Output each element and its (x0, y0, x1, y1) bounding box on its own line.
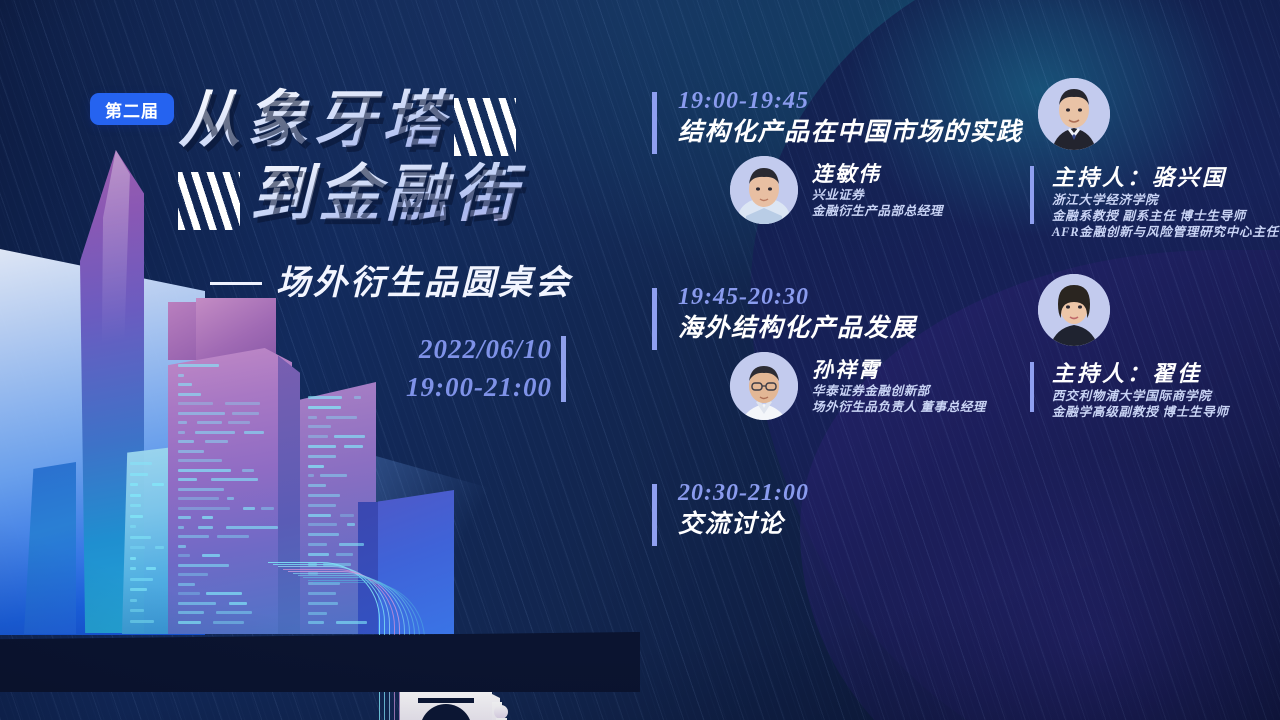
speaker-name: 孙祥霄 (812, 357, 986, 383)
poster-subtitle: 场外衍生品圆桌会 (210, 255, 600, 304)
ground-mask (0, 632, 640, 692)
session-time: 20:30-21:00 (678, 478, 1272, 508)
host-portrait-icon (1038, 78, 1110, 150)
event-date: 2022/06/10 (352, 330, 552, 368)
host-org-line-1: 西交利物浦大学国际商学院 (1052, 388, 1280, 404)
avatar (1038, 274, 1110, 346)
speaker-block: 孙祥霄 华泰证券金融创新部 场外衍生品负责人 董事总经理 (730, 352, 986, 420)
speaker-portrait-icon (730, 156, 798, 224)
event-datetime: 2022/06/10 19:00-21:00 (352, 330, 552, 406)
avatar (730, 352, 798, 420)
speaker-org-line-2: 场外衍生品负责人 董事总经理 (812, 399, 986, 415)
event-time: 19:00-21:00 (352, 368, 552, 406)
host-org-line-1: 浙江大学经济学院 (1052, 192, 1280, 208)
speaker-block: 连敏伟 兴业证券 金融衍生产品部总经理 (730, 156, 943, 224)
datetime-accent-bar (561, 336, 566, 402)
host-name: 主持人：骆兴国 (1052, 164, 1280, 192)
speaker-portrait-icon (730, 352, 798, 420)
speaker-org-line-1: 兴业证券 (812, 187, 943, 203)
host-block: 主持人：骆兴国 浙江大学经济学院 金融系教授 副系主任 博士生导师 AFR金融创… (1030, 78, 1280, 240)
speaker-text: 孙祥霄 华泰证券金融创新部 场外衍生品负责人 董事总经理 (812, 357, 986, 415)
building-mid-tall (122, 447, 174, 634)
session-accent-bar (652, 288, 657, 350)
subtitle-dash (210, 282, 262, 285)
title-line-2-text: 到金融街 (250, 161, 522, 229)
subtitle-text: 场外衍生品圆桌会 (276, 265, 572, 302)
session-title: 交流讨论 (678, 508, 1272, 542)
host-org-line-2: 金融学高级副教授 博士生导师 (1052, 404, 1280, 420)
host-portrait-icon (1038, 274, 1110, 346)
slash-decor-left (178, 172, 240, 230)
session-accent-bar (652, 92, 657, 154)
session-accent-bar (652, 484, 657, 546)
title-line-1: 从象牙塔 (178, 84, 598, 158)
agenda-session: 19:45-20:30 海外结构化产品发展 (652, 282, 1272, 478)
agenda-list: 19:00-19:45 结构化产品在中国市场的实践 (652, 86, 1272, 542)
host-org-line-3: AFR金融创新与风险管理研究中心主任 (1052, 224, 1280, 240)
host-accent-bar (1030, 166, 1034, 224)
host-accent-bar (1030, 362, 1034, 412)
host-name: 主持人：翟佳 (1052, 360, 1280, 388)
session-people: 连敏伟 兴业证券 金融衍生产品部总经理 (652, 156, 1272, 252)
speaker-org-line-1: 华泰证券金融创新部 (812, 383, 986, 399)
session-people: 孙祥霄 华泰证券金融创新部 场外衍生品负责人 董事总经理 (652, 352, 1272, 448)
host-org-line-2: 金融系教授 副系主任 博士生导师 (1052, 208, 1280, 224)
agenda-session: 19:00-19:45 结构化产品在中国市场的实践 (652, 86, 1272, 282)
title-line-1-text: 从象牙塔 (178, 87, 450, 155)
event-poster: 第二届 从象牙塔 到金融街 场外衍生品圆桌会 2022/06/10 19:00-… (0, 0, 1280, 720)
edition-badge: 第二届 (90, 93, 174, 125)
speaker-name: 连敏伟 (812, 161, 943, 187)
speaker-text: 连敏伟 兴业证券 金融衍生产品部总经理 (812, 161, 943, 219)
agenda-session: 20:30-21:00 交流讨论 (652, 478, 1272, 542)
poster-title: 从象牙塔 到金融街 (178, 84, 598, 232)
title-line-2: 到金融街 (178, 158, 598, 232)
host-block: 主持人：翟佳 西交利物浦大学国际商学院 金融学高级副教授 博士生导师 (1030, 274, 1280, 420)
avatar (1038, 78, 1110, 150)
slash-decor-right (454, 98, 516, 156)
avatar (730, 156, 798, 224)
speaker-org-line-2: 金融衍生产品部总经理 (812, 203, 943, 219)
